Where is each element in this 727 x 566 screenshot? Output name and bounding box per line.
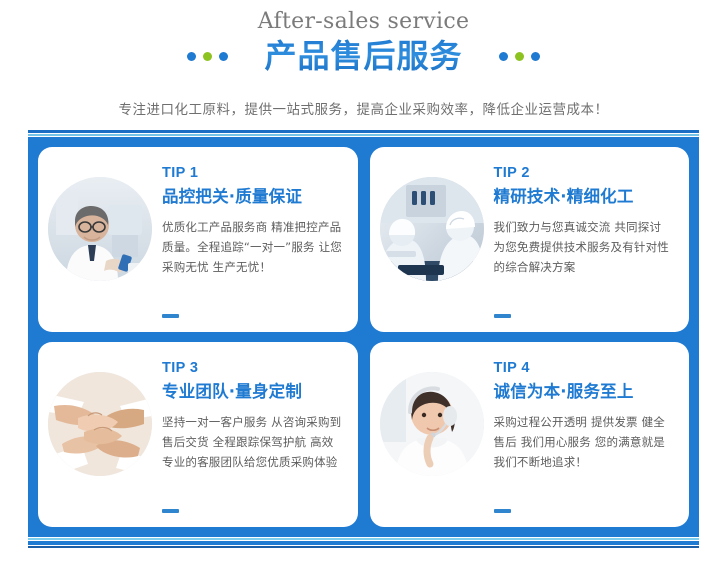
dot-green-icon <box>515 52 524 61</box>
tip-label: TIP 4 <box>494 360 676 377</box>
tip-card[interactable]: TIP 4 诚信为本·服务至上 采购过程公开透明 提供发票 健全售后 我们用心服… <box>370 342 690 527</box>
panel-top-rule-dark <box>28 130 699 133</box>
tip-card[interactable]: TIP 3 专业团队·量身定制 坚持一对一客户服务 从咨询采购到售后交货 全程跟… <box>38 342 358 527</box>
card-divider-dash <box>162 314 179 318</box>
tip-description: 采购过程公开透明 提供发票 健全售后 我们用心服务 您的满意就是我们不断地追求！ <box>494 412 676 472</box>
tip-card[interactable]: TIP 1 品控把关·质量保证 优质化工产品服务商 精准把控产品质量。全程追踪“… <box>38 147 358 332</box>
tip-description: 我们致力与您真诚交流 共同探讨 为您免费提供技术服务及有针对性的综合解决方案 <box>494 217 676 277</box>
after-sales-service-page: After-sales service 产品售后服务 专注进口化工原料，提供一站… <box>0 0 727 566</box>
panel-top-rule-light <box>28 134 699 136</box>
dot-blue-icon <box>187 52 196 61</box>
card-divider-dash <box>162 509 179 513</box>
tip-label: TIP 3 <box>162 360 344 377</box>
dot-blue-icon <box>499 52 508 61</box>
tip-card[interactable]: TIP 2 精研技术·精细化工 我们致力与您真诚交流 共同探讨 为您免费提供技术… <box>370 147 690 332</box>
tip-title: 专业团队·量身定制 <box>162 382 344 403</box>
chinese-title-row: 产品售后服务 <box>187 36 539 76</box>
card-text-block: TIP 3 专业团队·量身定制 坚持一对一客户服务 从咨询采购到售后交货 全程跟… <box>152 354 344 472</box>
dot-blue-icon <box>531 52 540 61</box>
panel-bottom-rule-mid <box>28 541 699 545</box>
tip-description: 坚持一对一客户服务 从咨询采购到售后交货 全程跟踪保驾护航 高效专业的客服团队给… <box>162 412 344 472</box>
tip-description: 优质化工产品服务商 精准把控产品质量。全程追踪“一对一”服务 让您采购无忧 生产… <box>162 217 344 277</box>
english-title: After-sales service <box>258 10 470 34</box>
tip-title: 品控把关·质量保证 <box>162 187 344 208</box>
team-hands-photo <box>48 372 152 476</box>
tip-label: TIP 1 <box>162 165 344 182</box>
cards-panel-wrapper: TIP 1 品控把关·质量保证 优质化工产品服务商 精准把控产品质量。全程追踪“… <box>0 128 727 566</box>
card-text-block: TIP 2 精研技术·精细化工 我们致力与您真诚交流 共同探讨 为您免费提供技术… <box>484 159 676 277</box>
tip-title: 精研技术·精细化工 <box>494 187 676 208</box>
card-divider-dash <box>494 314 511 318</box>
customer-service-agent-photo <box>380 372 484 476</box>
decorative-dots-right <box>499 52 540 61</box>
decorative-dots-left <box>187 52 228 61</box>
page-title: 产品售后服务 <box>264 36 462 76</box>
page-subtitle: 专注进口化工原料，提供一站式服务，提高企业采购效率，降低企业运营成本！ <box>0 98 727 118</box>
dot-blue-icon <box>219 52 228 61</box>
tip-title: 诚信为本·服务至上 <box>494 382 676 403</box>
page-header: After-sales service 产品售后服务 专注进口化工原料，提供一站… <box>0 0 727 128</box>
panel-bottom-rule-dark <box>28 546 699 548</box>
lab-scientist-photo <box>48 177 152 281</box>
dot-green-icon <box>203 52 212 61</box>
card-divider-dash <box>494 509 511 513</box>
cards-panel: TIP 1 品控把关·质量保证 优质化工产品服务商 精准把控产品质量。全程追踪“… <box>28 137 699 537</box>
cards-grid: TIP 1 品控把关·质量保证 优质化工产品服务商 精准把控产品质量。全程追踪“… <box>38 147 689 527</box>
panel-bottom-rule-light <box>28 538 699 540</box>
header-title-block: After-sales service 产品售后服务 <box>0 10 727 76</box>
card-text-block: TIP 1 品控把关·质量保证 优质化工产品服务商 精准把控产品质量。全程追踪“… <box>152 159 344 277</box>
cleanroom-workers-photo <box>380 177 484 281</box>
card-text-block: TIP 4 诚信为本·服务至上 采购过程公开透明 提供发票 健全售后 我们用心服… <box>484 354 676 472</box>
tip-label: TIP 2 <box>494 165 676 182</box>
